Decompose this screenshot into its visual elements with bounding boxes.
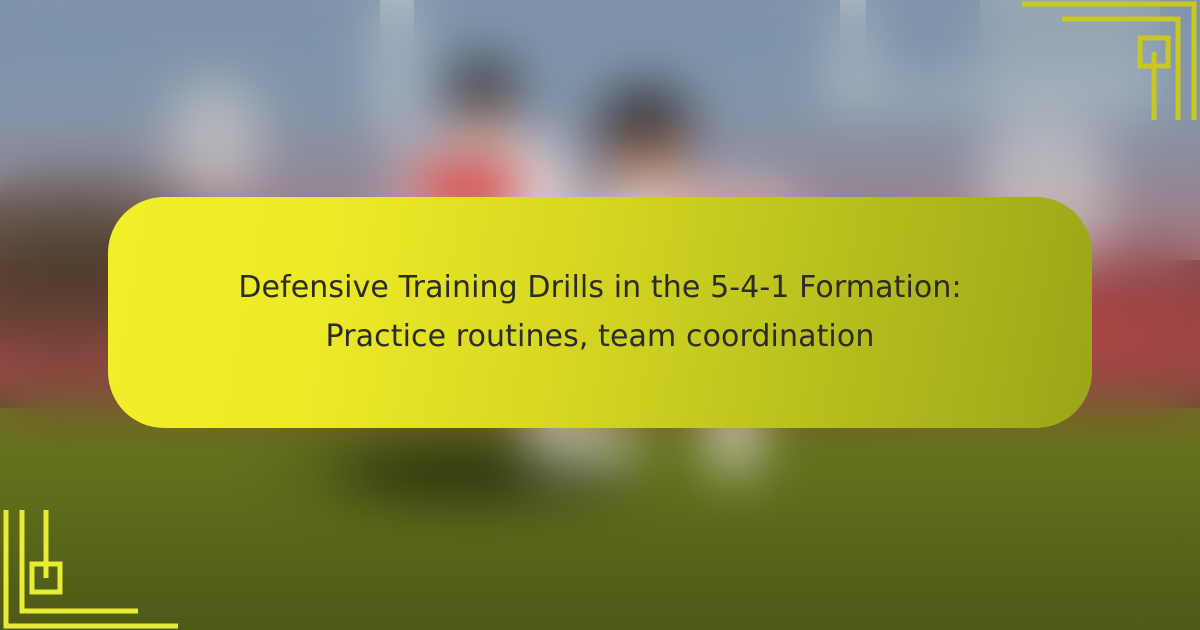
title-line-2: Practice routines, team coordination <box>326 319 875 354</box>
title-line-1: Defensive Training Drills in the 5-4-1 F… <box>238 270 961 305</box>
title-card: Defensive Training Drills in the 5-4-1 F… <box>108 197 1092 428</box>
ornament-inner-frame <box>1062 19 1178 120</box>
share-card-canvas: Defensive Training Drills in the 5-4-1 F… <box>0 0 1200 630</box>
ornament-inner-frame <box>22 510 138 611</box>
page-title: Defensive Training Drills in the 5-4-1 F… <box>238 264 961 361</box>
corner-ornament-top-right <box>1000 0 1200 120</box>
corner-ornament-bottom-left <box>0 510 200 630</box>
